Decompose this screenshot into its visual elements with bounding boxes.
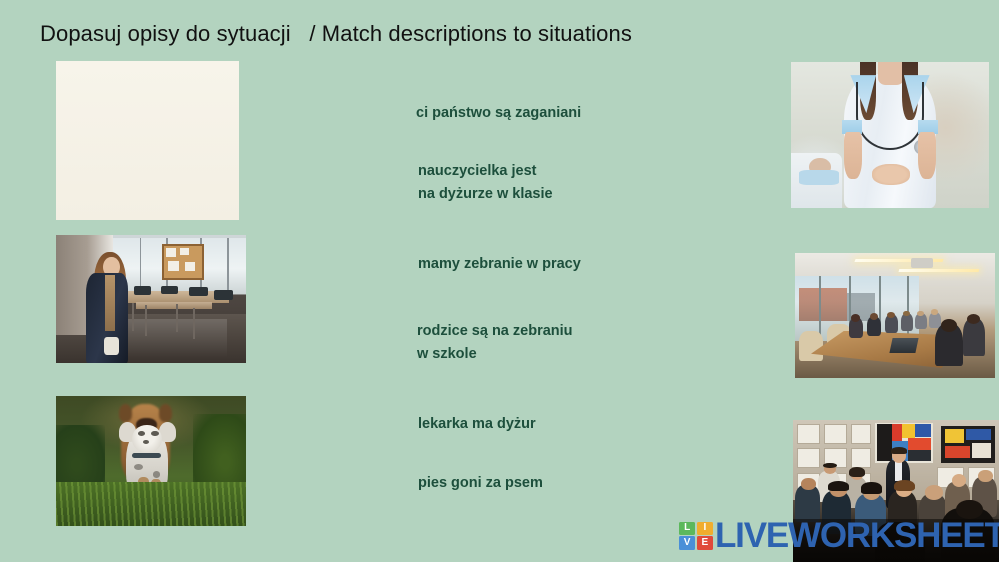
- description-busy[interactable]: ci państwo są zaganiani: [416, 102, 581, 125]
- image-parents-meeting[interactable]: [793, 420, 999, 562]
- image-busy-people-content: [56, 61, 239, 220]
- page-title: Dopasuj opisy do sytuacji / Match descri…: [40, 20, 632, 48]
- image-nurse-content: [791, 62, 989, 208]
- image-dogs-running-content: [56, 396, 246, 526]
- image-teacher-classroom-content: [56, 235, 246, 363]
- description-teacher-duty[interactable]: nauczycielka jest na dyżurze w klasie: [418, 160, 553, 205]
- liveworksheets-logo-icon: L I V E: [679, 522, 713, 550]
- image-dogs-running[interactable]: [56, 396, 246, 526]
- logo-cell-v: V: [679, 536, 695, 549]
- image-nurse[interactable]: [791, 62, 989, 208]
- image-busy-people[interactable]: [56, 61, 239, 220]
- image-parents-meeting-content: [793, 420, 999, 562]
- description-doctor-duty[interactable]: lekarka ma dyżur: [418, 413, 536, 436]
- worksheet-slide: Dopasuj opisy do sytuacji / Match descri…: [0, 0, 999, 562]
- image-teacher-classroom[interactable]: [56, 235, 246, 363]
- image-work-meeting[interactable]: [795, 253, 995, 378]
- description-school-meeting[interactable]: rodzice są na zebraniu w szkole: [417, 320, 573, 365]
- description-work-meeting[interactable]: mamy zebranie w pracy: [418, 253, 581, 276]
- logo-cell-i: I: [697, 522, 713, 535]
- image-work-meeting-content: [795, 253, 995, 378]
- logo-cell-l: L: [679, 522, 695, 535]
- description-dog-chase[interactable]: pies goni za psem: [418, 472, 543, 495]
- logo-cell-e: E: [697, 536, 713, 549]
